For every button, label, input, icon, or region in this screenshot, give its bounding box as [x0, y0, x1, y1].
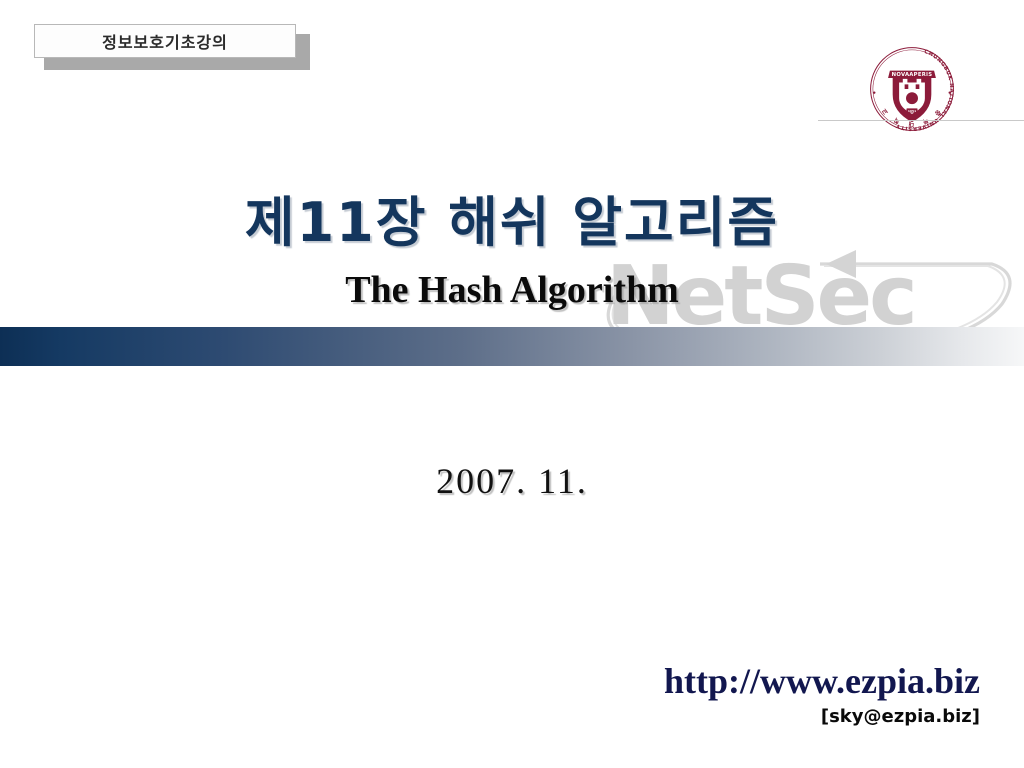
- university-seal-logo: CHUNGBUK NATIONAL UNIVERSITY 충 북 대 학 교 N…: [866, 43, 958, 135]
- gradient-divider-band: [0, 327, 1024, 366]
- title-slide: 정보보호기초강의 CHUNGBUK NATIONAL UNIVERSITY 충 …: [0, 0, 1024, 768]
- header-rule: [818, 120, 1024, 121]
- course-badge-label: 정보보호기초강의: [102, 29, 228, 53]
- course-badge: 정보보호기초강의: [34, 24, 310, 64]
- slide-title-english: The Hash Algorithm: [0, 268, 1024, 312]
- seal-svg: CHUNGBUK NATIONAL UNIVERSITY 충 북 대 학 교 N…: [866, 43, 958, 135]
- course-badge-box: 정보보호기초강의: [34, 24, 296, 58]
- website-url[interactable]: http://www.ezpia.biz: [664, 660, 980, 702]
- slide-title-korean: 제11장 해쉬 알고리즘: [0, 178, 1024, 257]
- contact-email[interactable]: [sky@ezpia.biz]: [821, 706, 980, 727]
- svg-text:NOVAAPERIS: NOVAAPERIS: [892, 72, 933, 78]
- presentation-date: 2007. 11.: [0, 460, 1024, 502]
- svg-text:1951: 1951: [908, 109, 916, 113]
